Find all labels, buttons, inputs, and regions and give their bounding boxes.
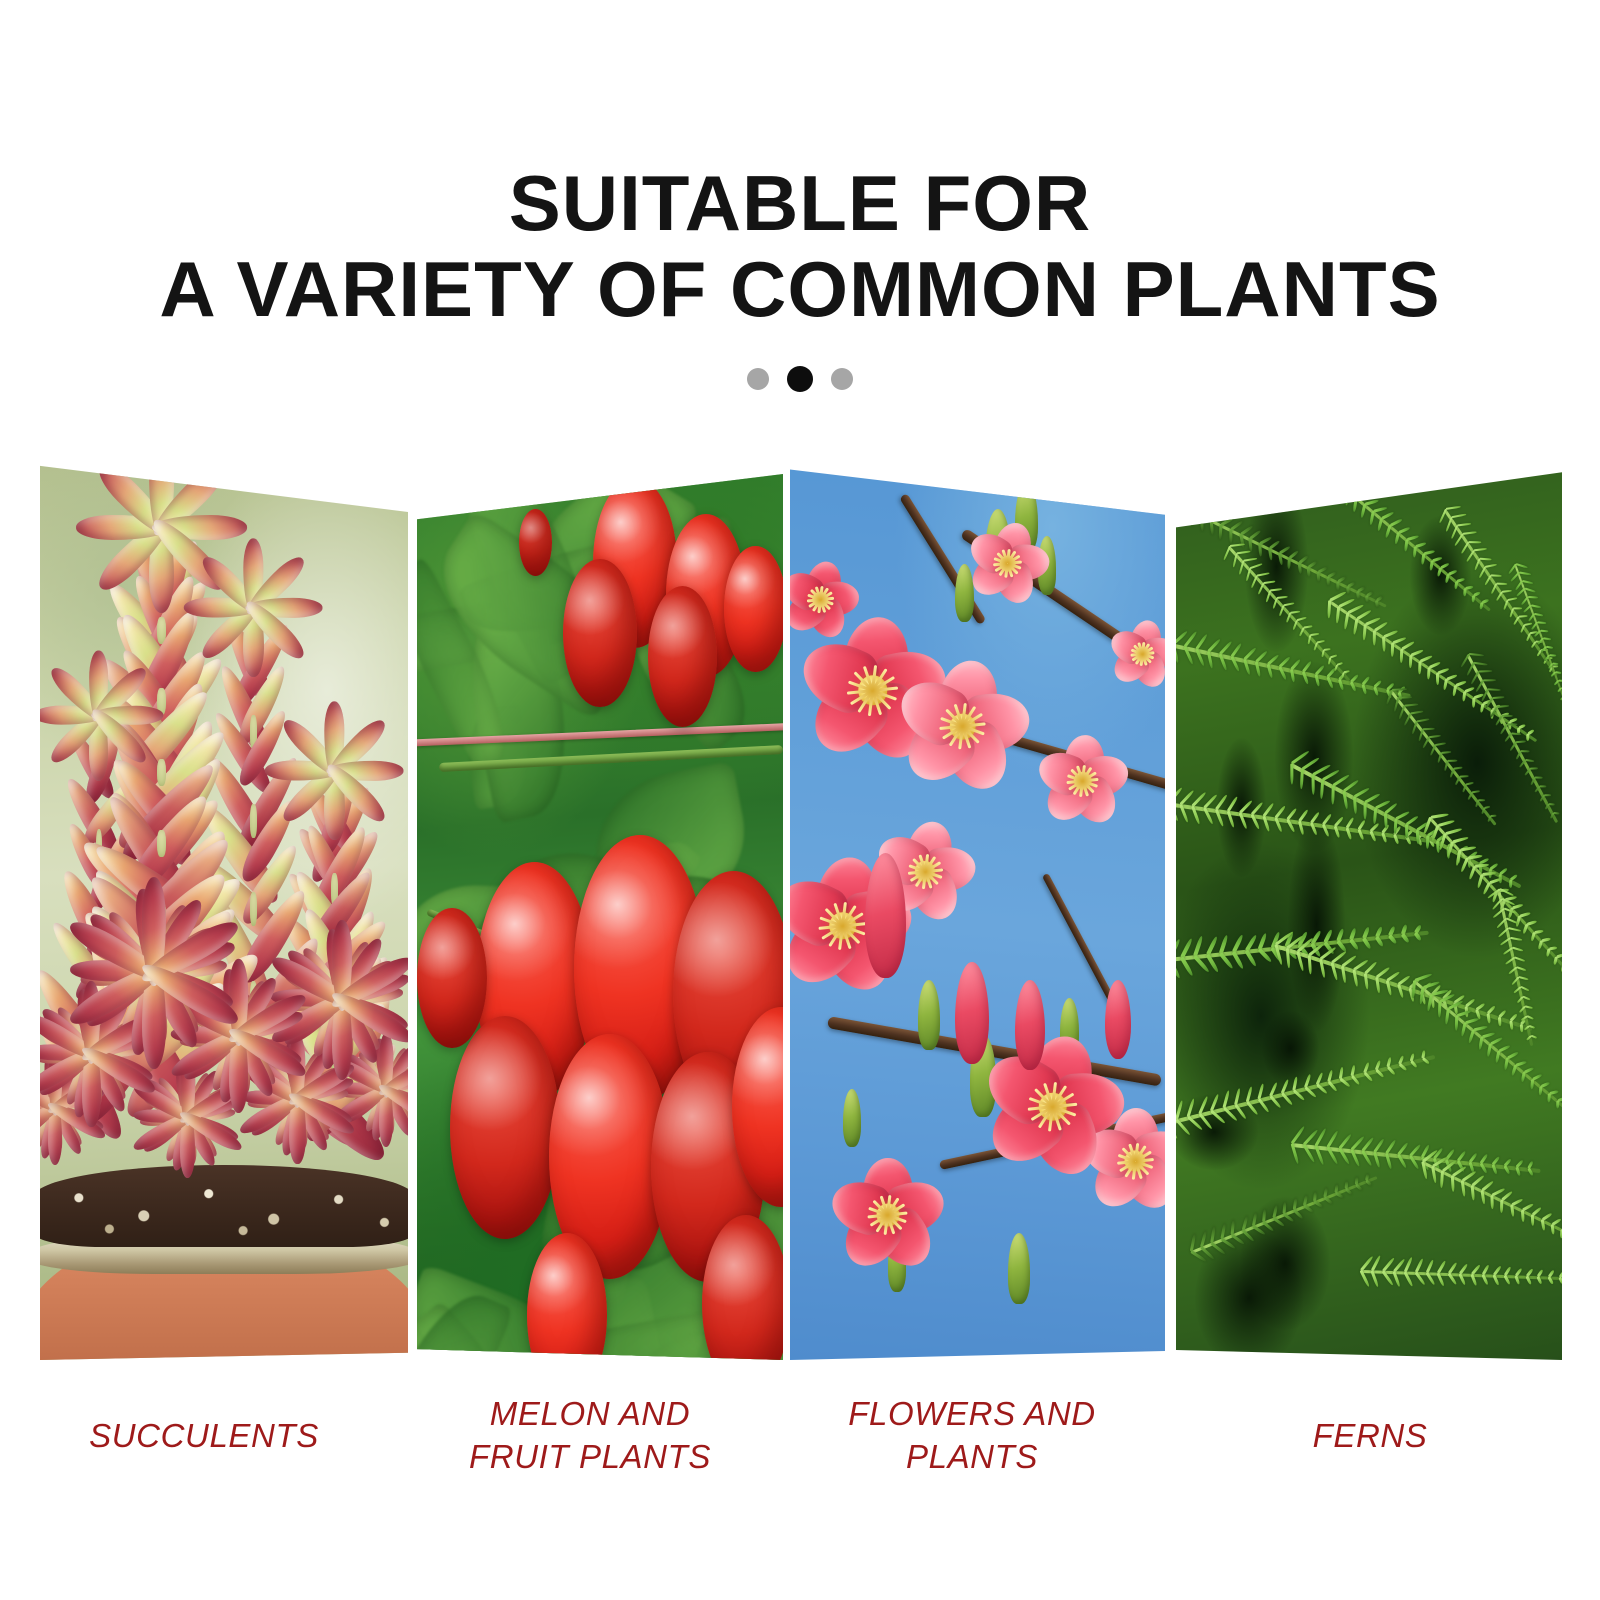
panel-flowers-plants[interactable]	[790, 455, 1165, 1360]
promo-banner: SUITABLE FOR A VARIETY OF COMMON PLANTS	[0, 0, 1600, 1600]
panel-ferns[interactable]	[1176, 455, 1562, 1360]
panel-melon-fruit[interactable]	[417, 455, 783, 1360]
caption-melon-fruit: MELON AND FRUIT PLANTS	[400, 1375, 780, 1495]
soil-gravel	[40, 1165, 408, 1246]
succulents-photo	[40, 455, 408, 1360]
tomatoes-photo	[417, 455, 783, 1360]
caption-ferns: FERNS	[1175, 1375, 1565, 1495]
caption-succulents: SUCCULENTS	[18, 1375, 390, 1495]
panel-captions: SUCCULENTS MELON AND FRUIT PLANTS FLOWER…	[0, 1375, 1600, 1515]
plant-panel-row	[0, 0, 1600, 1600]
flowers-photo	[790, 455, 1165, 1360]
caption-flowers: FLOWERS AND PLANTS	[782, 1375, 1162, 1495]
ferns-photo	[1176, 455, 1562, 1360]
panel-succulents[interactable]	[40, 455, 408, 1360]
